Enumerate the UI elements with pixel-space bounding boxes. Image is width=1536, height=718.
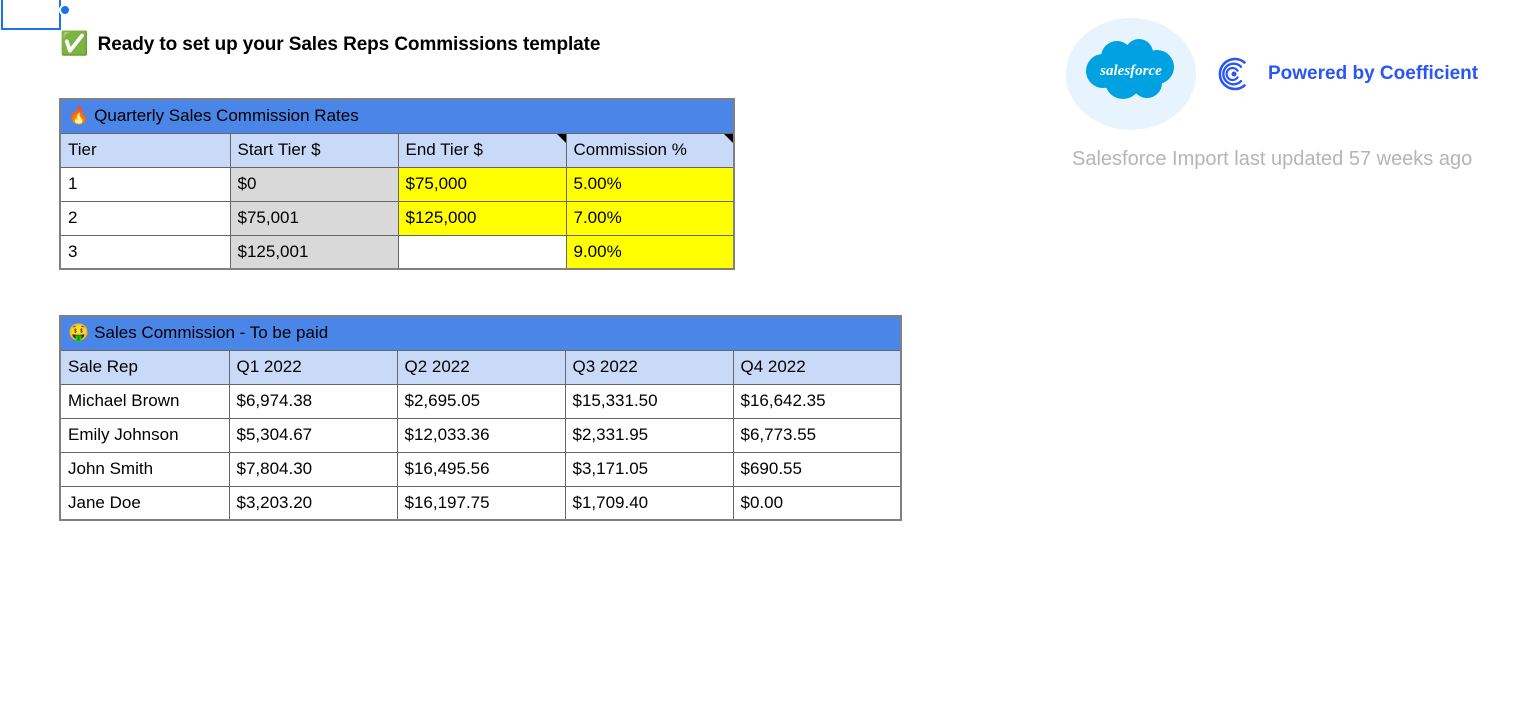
cell-sale-rep[interactable]: John Smith <box>60 452 229 486</box>
cell-q2[interactable]: $16,495.56 <box>397 452 565 486</box>
table-title-cell: 🔥 Quarterly Sales Commission Rates <box>60 99 734 133</box>
table-header-row: Tier Start Tier $ End Tier $ Commission … <box>60 133 734 167</box>
cell-q1[interactable]: $5,304.67 <box>229 418 397 452</box>
cell-tier[interactable]: 2 <box>60 201 230 235</box>
cell-q3[interactable]: $15,331.50 <box>565 384 733 418</box>
salesforce-wordmark: salesforce <box>1099 63 1162 79</box>
table-row[interactable]: 2 $75,001 $125,000 7.00% <box>60 201 734 235</box>
column-header-q3[interactable]: Q3 2022 <box>565 350 733 384</box>
table-row[interactable]: Emily Johnson $5,304.67 $12,033.36 $2,33… <box>60 418 901 452</box>
cell-q2[interactable]: $2,695.05 <box>397 384 565 418</box>
salesforce-cloud-icon: salesforce <box>1079 37 1183 111</box>
active-cell-selection[interactable] <box>1 0 61 30</box>
column-header-q1[interactable]: Q1 2022 <box>229 350 397 384</box>
column-header-q2[interactable]: Q2 2022 <box>397 350 565 384</box>
column-header-sale-rep[interactable]: Sale Rep <box>60 350 229 384</box>
cell-start-tier[interactable]: $125,001 <box>230 235 398 269</box>
cell-q2[interactable]: $16,197.75 <box>397 486 565 520</box>
cell-q3[interactable]: $2,331.95 <box>565 418 733 452</box>
powered-by-coefficient-label: Powered by Coefficient <box>1268 63 1478 85</box>
cell-tier[interactable]: 1 <box>60 167 230 201</box>
white-check-mark-icon: ✅ <box>60 33 89 56</box>
table-title-text: Sales Commission - To be paid <box>94 323 328 343</box>
cell-q3[interactable]: $1,709.40 <box>565 486 733 520</box>
salesforce-badge: salesforce <box>1066 18 1196 130</box>
column-header-start-tier[interactable]: Start Tier $ <box>230 133 398 167</box>
column-header-commission-pct[interactable]: Commission % <box>566 133 734 167</box>
cell-end-tier[interactable]: $75,000 <box>398 167 566 201</box>
fill-handle[interactable] <box>59 4 71 16</box>
table-row[interactable]: 1 $0 $75,000 5.00% <box>60 167 734 201</box>
column-header-tier[interactable]: Tier <box>60 133 230 167</box>
cell-q4[interactable]: $0.00 <box>733 486 901 520</box>
column-header-q4[interactable]: Q4 2022 <box>733 350 901 384</box>
cell-end-tier[interactable] <box>398 235 566 269</box>
table-header-row: Sale Rep Q1 2022 Q2 2022 Q3 2022 Q4 2022 <box>60 350 901 384</box>
coefficient-icon <box>1218 57 1252 91</box>
cell-q3[interactable]: $3,171.05 <box>565 452 733 486</box>
money-mouth-face-icon: 🤑 <box>68 325 89 342</box>
cell-q4[interactable]: $690.55 <box>733 452 901 486</box>
table-row[interactable]: 3 $125,001 9.00% <box>60 235 734 269</box>
cell-start-tier[interactable]: $75,001 <box>230 201 398 235</box>
branding-panel: salesforce Powered by Coefficient Salesf… <box>1066 18 1526 171</box>
table-title-row: 🔥 Quarterly Sales Commission Rates <box>60 99 734 133</box>
status-headline-text: Ready to set up your Sales Reps Commissi… <box>98 34 601 56</box>
coefficient-block: Powered by Coefficient <box>1218 57 1478 91</box>
cell-q4[interactable]: $16,642.35 <box>733 384 901 418</box>
table-row[interactable]: Jane Doe $3,203.20 $16,197.75 $1,709.40 … <box>60 486 901 520</box>
cell-q1[interactable]: $3,203.20 <box>229 486 397 520</box>
cell-start-tier[interactable]: $0 <box>230 167 398 201</box>
table-title-cell: 🤑 Sales Commission - To be paid <box>60 316 901 350</box>
table-commission-payout[interactable]: 🤑 Sales Commission - To be paid Sale Rep… <box>59 315 902 521</box>
fire-icon: 🔥 <box>68 108 89 125</box>
cell-commission-pct[interactable]: 5.00% <box>566 167 734 201</box>
table-title-text: Quarterly Sales Commission Rates <box>94 106 359 126</box>
table-row[interactable]: John Smith $7,804.30 $16,495.56 $3,171.0… <box>60 452 901 486</box>
cell-q4[interactable]: $6,773.55 <box>733 418 901 452</box>
status-headline: ✅ Ready to set up your Sales Reps Commis… <box>60 33 600 56</box>
cell-commission-pct[interactable]: 9.00% <box>566 235 734 269</box>
cell-sale-rep[interactable]: Emily Johnson <box>60 418 229 452</box>
cell-sale-rep[interactable]: Michael Brown <box>60 384 229 418</box>
cell-q2[interactable]: $12,033.36 <box>397 418 565 452</box>
cell-q1[interactable]: $7,804.30 <box>229 452 397 486</box>
coefficient-center-dot <box>1232 72 1237 77</box>
cell-q1[interactable]: $6,974.38 <box>229 384 397 418</box>
branding-row: salesforce Powered by Coefficient <box>1066 18 1526 130</box>
cell-sale-rep[interactable]: Jane Doe <box>60 486 229 520</box>
cell-end-tier[interactable]: $125,000 <box>398 201 566 235</box>
table-row[interactable]: Michael Brown $6,974.38 $2,695.05 $15,33… <box>60 384 901 418</box>
column-header-end-tier[interactable]: End Tier $ <box>398 133 566 167</box>
table-commission-rates[interactable]: 🔥 Quarterly Sales Commission Rates Tier … <box>59 98 735 270</box>
cell-commission-pct[interactable]: 7.00% <box>566 201 734 235</box>
table-title-row: 🤑 Sales Commission - To be paid <box>60 316 901 350</box>
cell-tier[interactable]: 3 <box>60 235 230 269</box>
sync-status-text: Salesforce Import last updated 57 weeks … <box>1066 148 1526 171</box>
